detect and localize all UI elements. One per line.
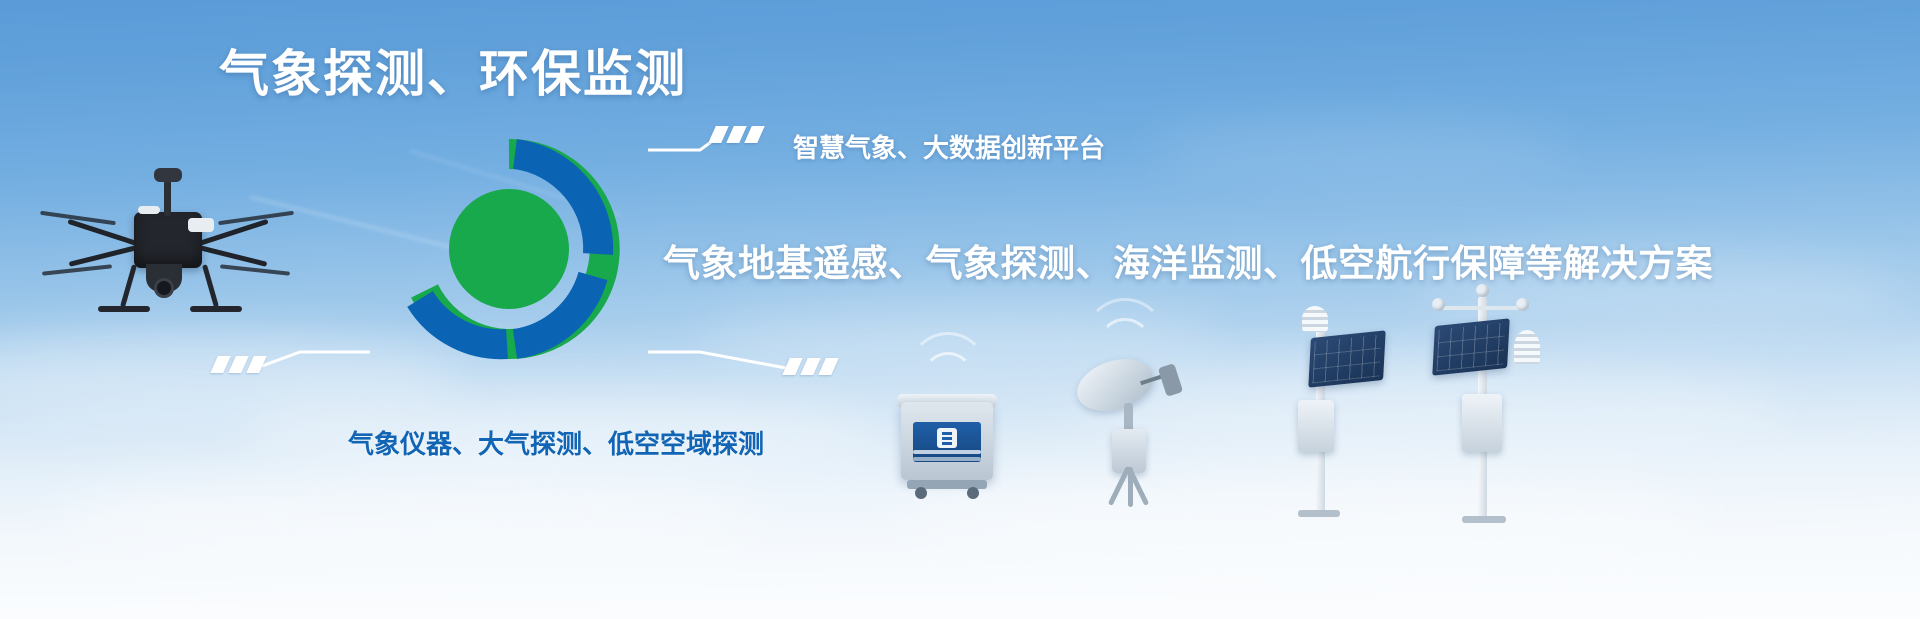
chevron-mark-left — [214, 356, 263, 373]
drone — [38, 160, 288, 340]
anemometer-weather-pole — [1418, 276, 1538, 506]
callout-bottom-label: 气象仪器、大气探测、低空空域探测 — [348, 424, 764, 461]
callout-top-label: 智慧气象、大数据创新平台 — [793, 128, 1105, 165]
callout-main-label: 气象地基遥感、气象探测、海洋监测、低空航行保障等解决方案 — [663, 233, 1713, 287]
page-title: 气象探测、环保监测 — [219, 49, 687, 99]
chevron-mark-top — [712, 126, 761, 143]
solar-weather-pole — [1282, 300, 1402, 530]
hero-banner: 气象探测、环保监测 智慧气象、大数据创新平台 — [0, 0, 1920, 619]
green-blue-donut-diagram — [396, 136, 622, 362]
chevron-mark-right — [786, 358, 835, 375]
